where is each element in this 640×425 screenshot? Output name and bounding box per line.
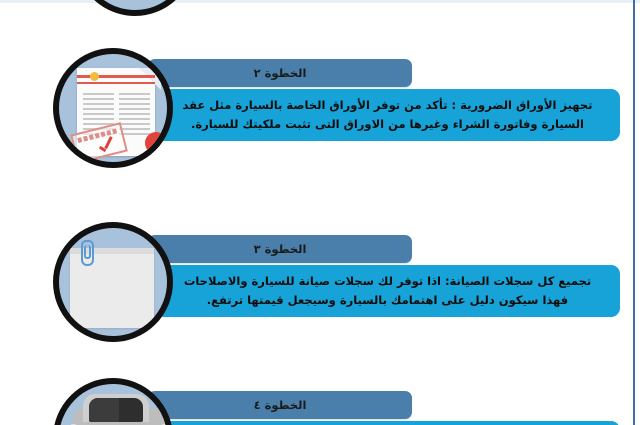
- step-3-header-bar: الخطوة ٣: [148, 235, 412, 263]
- infographic-page: الخطوة ٢ تجهيز الأوراق الضرورية : تأكد م…: [0, 0, 640, 425]
- step-2-body-box: تجهيز الأوراق الضرورية : تأكد من توفر ال…: [155, 89, 620, 141]
- step-3-header-label: الخطوة ٣: [148, 235, 412, 263]
- document-stamp-icon: [59, 54, 167, 162]
- step-2-body-text: تجهيز الأوراق الضرورية : تأكد من توفر ال…: [171, 96, 604, 134]
- document-text-column-right: [119, 93, 150, 137]
- document-fold: [139, 68, 161, 90]
- red-accent-dot: [145, 132, 167, 154]
- step-2-header-label: الخطوة ٢: [148, 59, 412, 87]
- step-3-body-box: تجميع كل سجلات الصيانة: اذا توفر لك سجلا…: [155, 265, 620, 317]
- step-3-body-text: تجميع كل سجلات الصيانة: اذا توفر لك سجلا…: [171, 272, 604, 310]
- document-seal-dot: [90, 72, 99, 81]
- step-1-row: [0, 0, 640, 26]
- step-2-header-bar: الخطوة ٢: [148, 59, 412, 87]
- step-2-icon-badge: [53, 48, 173, 168]
- step-2-row: الخطوة ٢ تجهيز الأوراق الضرورية : تأكد م…: [0, 48, 640, 168]
- circle-partial-icon: [81, 0, 189, 10]
- step-4-row: الخطوة ٤: [0, 378, 640, 425]
- step-1-icon-badge: [75, 0, 195, 16]
- step-3-icon-badge: [53, 222, 173, 342]
- step-4-body-box: [155, 421, 620, 425]
- step-3-row: الخطوة ٣ تجميع كل سجلات الصيانة: اذا توف…: [0, 222, 640, 342]
- step-4-icon-badge: [53, 378, 173, 425]
- paperclip-icon: [81, 240, 94, 266]
- document-red-rule: [77, 75, 155, 78]
- step-4-header-bar: الخطوة ٤: [148, 391, 412, 419]
- document-red-rule-2: [77, 82, 155, 84]
- car-front-icon: [59, 384, 167, 425]
- paperclip-document-icon: [59, 228, 167, 336]
- car-windshield-shine: [89, 398, 119, 422]
- step-4-header-label: الخطوة ٤: [148, 391, 412, 419]
